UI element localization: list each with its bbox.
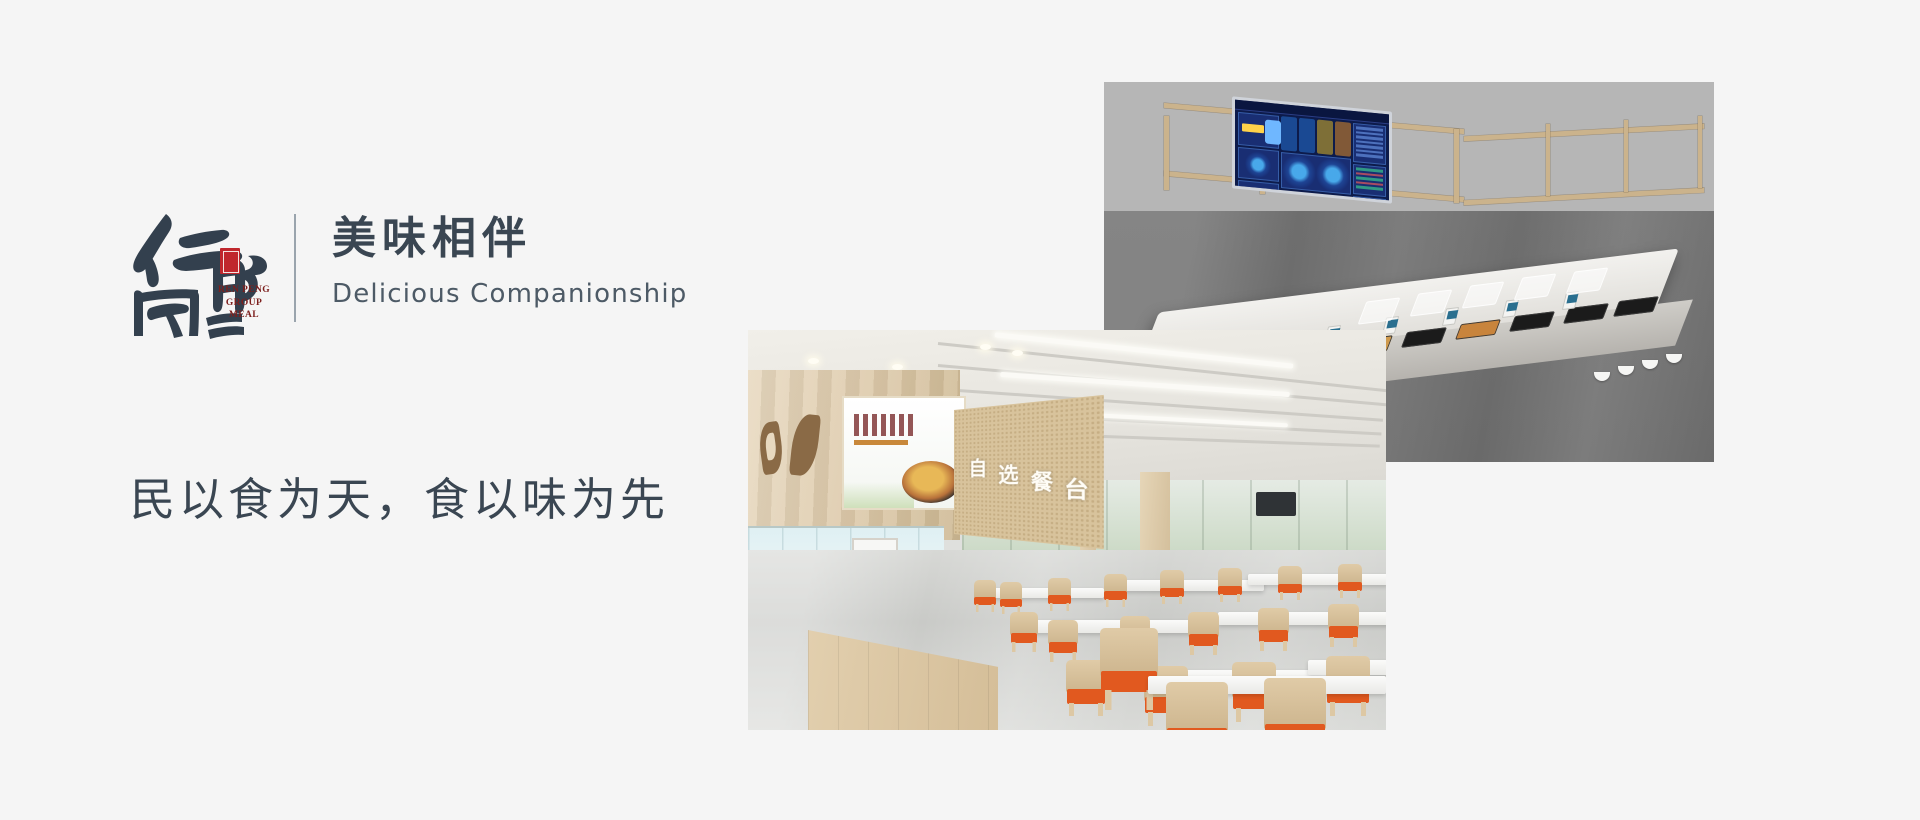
wall-mounted-tv (1256, 492, 1296, 516)
headline-chinese: 美味相伴 (332, 214, 687, 265)
leaf-decoration-icon (789, 413, 821, 477)
headline-stack: 美味相伴 Delicious Companionship (332, 208, 687, 309)
dashboard-radar-card (1238, 147, 1279, 181)
slogan-text: 民以食为天，食以味为先 (130, 463, 669, 528)
ren-peng-group-meal-calligraphy-logo: REN PENG GROUP MEAL (128, 208, 268, 343)
menu-lightbox-sign (844, 398, 964, 508)
self-service-counter-sign: 自 选 餐 台 (954, 395, 1104, 549)
dashboard-status-card (1353, 164, 1386, 197)
dining-chair (1104, 574, 1127, 607)
dining-chair-foreground (1166, 682, 1228, 730)
logo-english-lines: REN PENG GROUP MEAL (216, 284, 272, 322)
page-root: REN PENG GROUP MEAL 美味相伴 Delicious Compa… (0, 0, 1920, 820)
dashboard-gauges (1281, 152, 1351, 195)
sign-char-1: 自 (969, 453, 988, 481)
dining-chair (1218, 568, 1242, 602)
dining-chair (1160, 570, 1184, 604)
dining-chair (1000, 582, 1022, 614)
dining-chair (1048, 620, 1078, 662)
dining-chair (1258, 608, 1289, 651)
sign-char-3: 餐 (1031, 465, 1055, 496)
dining-table (1248, 574, 1386, 585)
logo-en-line-1: REN PENG (216, 284, 272, 297)
logo-en-line-2: GROUP (216, 297, 272, 310)
stacked-bowls (1594, 372, 1610, 381)
red-seal-stamp (220, 248, 240, 274)
calligraphy-strokes-icon (128, 208, 268, 343)
dining-chair (1338, 564, 1362, 598)
dining-chair (1278, 566, 1302, 600)
logo-en-line-3: MEAL (216, 309, 272, 322)
dining-chair (1188, 612, 1219, 655)
ceiling-downlight (1012, 350, 1023, 356)
noodle-dish-photo (902, 461, 960, 503)
lightbox-title-art (854, 414, 916, 436)
stacked-bowls (1666, 354, 1682, 363)
dining-chair (1048, 578, 1071, 611)
dining-chair-foreground (1264, 678, 1326, 730)
dashboard-grid (1238, 112, 1386, 197)
canteen-interior-photo: 自 选 餐 台 (748, 330, 1386, 730)
stacked-bowls (1642, 360, 1658, 369)
brand-row: REN PENG GROUP MEAL 美味相伴 Delicious Compa… (128, 208, 687, 343)
smart-canteen-dashboard-screen (1232, 96, 1392, 203)
dashboard-score-card (1238, 112, 1279, 149)
leaf-decoration-icon (756, 421, 785, 476)
dining-table (1218, 612, 1386, 625)
dining-chair-foreground (1100, 628, 1158, 710)
dining-chair (974, 580, 996, 612)
sign-char-2: 选 (998, 459, 1019, 489)
lightbox-subtitle-art (854, 440, 908, 445)
brand-divider (294, 214, 296, 322)
dashboard-list-card (1353, 123, 1386, 165)
ceiling-downlight (808, 358, 819, 364)
dining-chair (1010, 612, 1038, 652)
sign-char-4: 台 (1064, 472, 1090, 505)
headline-english: Delicious Companionship (332, 279, 687, 309)
dashboard-kpi-row (1281, 116, 1351, 157)
dining-chair (1328, 604, 1359, 647)
ceiling-downlight (980, 344, 991, 350)
stacked-bowls (1618, 366, 1634, 375)
